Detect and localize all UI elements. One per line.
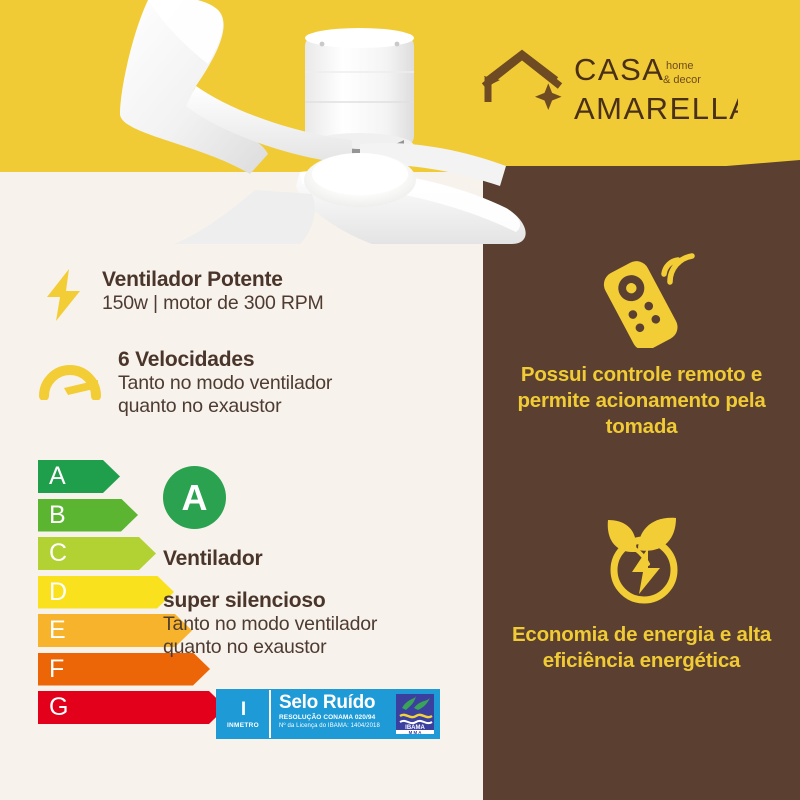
speedometer-gauge-icon [38,348,102,405]
brand-logo: CASA AMARELLA home & decor [478,46,738,120]
feature-power: Ventilador Potente 150w | motor de 300 R… [42,268,324,327]
energy-bar-letter: B [49,499,66,532]
feature-power-title: Ventilador Potente [102,268,324,292]
lightning-bolt-icon [42,268,86,327]
energy-bar-letter: G [49,691,68,724]
remote-control-icon [483,252,800,348]
right-feature-eco-text: Economia de energia e alta eficiência en… [483,622,800,674]
feature-speeds: 6 Velocidades Tanto no modo ventilador q… [38,348,332,418]
feature-silent-title-line1: Ventilador [163,547,463,571]
feature-silent-title-line2: super silencioso [163,589,463,613]
brand-tagline-line1: home [666,60,694,72]
energy-bar-letter: D [49,576,67,609]
feature-speeds-title: 6 Velocidades [118,348,332,372]
inmetro-label: INMETRO [227,722,259,729]
feature-power-subtitle: 150w | motor de 300 RPM [102,292,324,315]
energy-bar-letter: F [49,653,64,686]
infographic-canvas: CASA AMARELLA home & decor Ventilador Po… [0,0,800,800]
feature-speeds-subtitle-line1: Tanto no modo ventilador [118,372,332,395]
ibama-sub: M M A [409,730,423,735]
feature-silent: A Ventilador super silencioso Tanto no m… [163,466,463,660]
energy-bar-letter: A [49,460,66,493]
noise-seal-inmetro: I INMETRO Selo Ruído RESOLUÇÃO CONAMA 02… [216,689,440,739]
noise-seal-resolution: RESOLUÇÃO CONAMA 020/94 [279,713,391,722]
energy-bar-letter: E [49,614,66,647]
brand-name-line2: AMARELLA [574,91,738,124]
right-feature-remote-text: Possui controle remoto e permite acionam… [483,362,800,439]
leaf-energy-icon [483,508,800,608]
ibama-logo: IBAMA M M A [391,690,439,738]
energy-class-badge-letter: A [182,480,208,516]
right-feature-remote: Possui controle remoto e permite acionam… [483,252,800,439]
brand-tagline-line2: & decor [663,74,701,86]
noise-seal-title: Selo Ruído [279,693,391,713]
feature-speeds-subtitle-line2: quanto no exaustor [118,395,332,418]
inmetro-logo: I INMETRO [217,690,271,738]
right-feature-eco: Economia de energia e alta eficiência en… [483,508,800,674]
inmetro-glyph-icon: I [241,700,245,719]
brand-name-line1: CASA [574,52,664,87]
ceiling-fan-product-image [0,0,530,234]
energy-bar-g: G [38,691,208,724]
energy-bar-letter: C [49,537,67,570]
energy-class-badge: A [163,466,226,529]
feature-silent-subtitle-line1: Tanto no modo ventilador [163,613,463,636]
noise-seal-license: Nº da Licença do IBAMA: 1404/2018 [279,722,391,730]
feature-silent-subtitle-line2: quanto no exaustor [163,636,463,659]
